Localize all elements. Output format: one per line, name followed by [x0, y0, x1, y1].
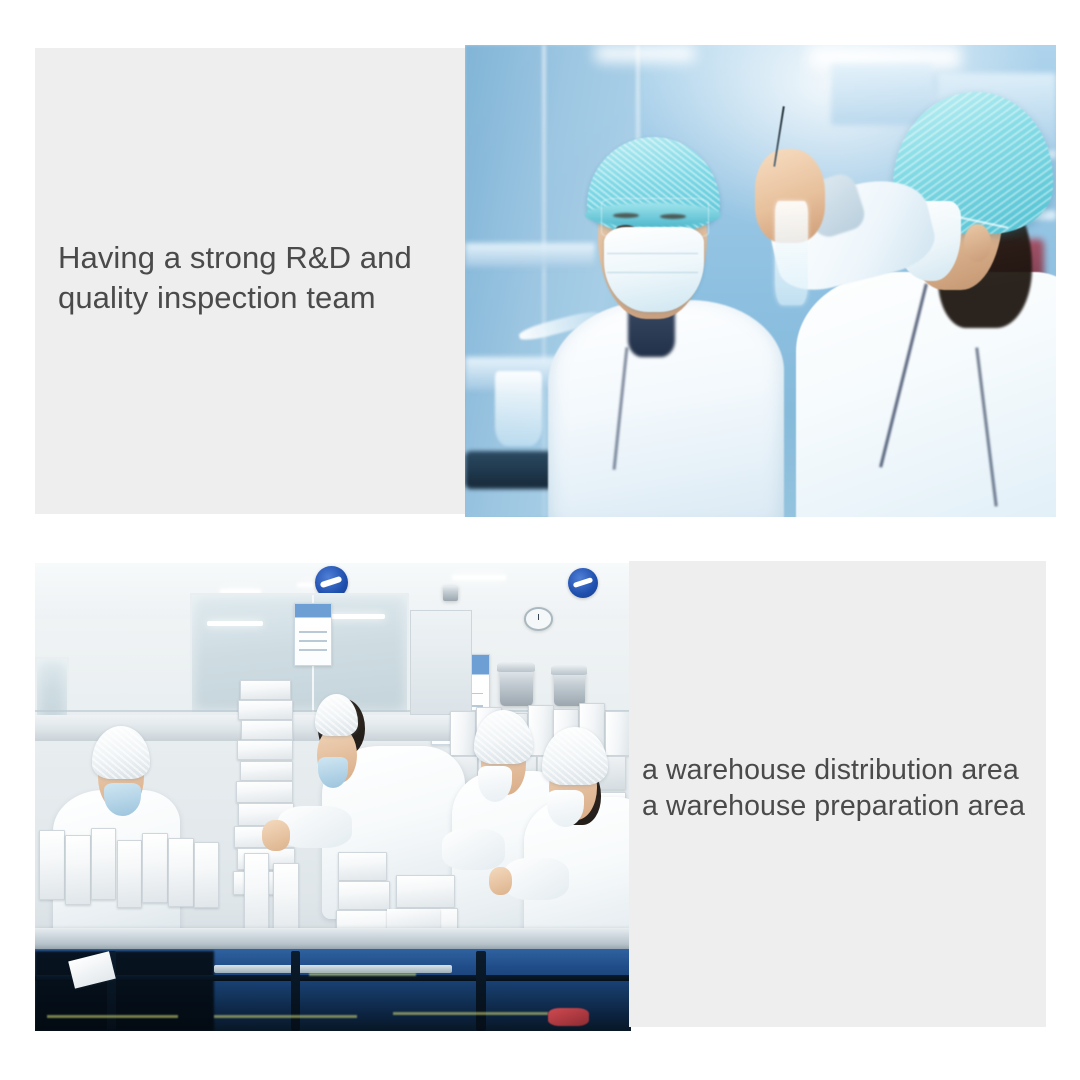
worker-hand — [262, 820, 290, 850]
worker-a-mask-fold — [607, 253, 699, 255]
carton — [168, 838, 194, 907]
rnd-caption-panel: Having a strong R&D and quality inspecti… — [35, 48, 467, 514]
carton — [194, 842, 220, 907]
lab-quality-inspection-photo — [465, 45, 1056, 517]
carton — [236, 781, 293, 803]
carton — [338, 852, 387, 881]
carton — [65, 835, 91, 905]
steel-pot-lid — [551, 664, 587, 675]
ceiling-light-icon — [452, 575, 506, 581]
floor-stripe — [214, 1015, 357, 1018]
worker-arm — [278, 806, 351, 848]
steel-pot — [500, 668, 533, 705]
section-warehouse: a warehouse distribution area a warehous… — [35, 561, 1046, 1031]
warehouse-caption-text: a warehouse distribution area a warehous… — [629, 752, 1033, 825]
lab-scene — [465, 45, 1056, 517]
section-rnd-quality: Having a strong R&D and quality inspecti… — [35, 45, 1056, 517]
paper-sheet — [387, 909, 441, 928]
carton — [39, 830, 65, 900]
lab-cabinet — [831, 64, 931, 125]
warning-sign-icon — [568, 568, 598, 598]
worker-b-ear — [964, 224, 991, 262]
carton — [142, 833, 168, 903]
steel-pot — [554, 671, 585, 706]
wall-notice-poster — [294, 603, 332, 666]
rnd-caption-text: Having a strong R&D and quality inspecti… — [35, 238, 424, 317]
carton — [238, 700, 292, 720]
carton — [237, 740, 293, 760]
carton-stack-front — [35, 816, 250, 938]
table-leg — [476, 951, 486, 1031]
worker-a-face-mask — [604, 227, 704, 312]
warehouse-scene — [35, 563, 631, 1031]
worker-hairnet — [92, 726, 151, 779]
table-shadow — [35, 951, 214, 1031]
lab-wall-seam — [542, 45, 546, 517]
carton — [117, 840, 143, 908]
worker-shoe — [548, 1008, 590, 1027]
poster-text-line — [299, 649, 328, 651]
carton — [240, 761, 293, 781]
carton — [240, 680, 292, 700]
worker-arm — [504, 858, 570, 900]
warehouse-worker-right — [524, 722, 631, 956]
carton-bottle — [244, 853, 270, 939]
lab-sample-vial — [775, 201, 808, 305]
poster-text-line — [299, 640, 328, 642]
carton — [241, 720, 293, 740]
carton — [338, 881, 390, 910]
table-leg — [291, 951, 299, 1031]
poster-text-line — [299, 631, 328, 633]
wall-clock-icon — [524, 607, 553, 631]
floor-stripe — [309, 973, 416, 976]
floor-stripe — [47, 1015, 178, 1018]
warehouse-caption-panel: a warehouse distribution area a warehous… — [629, 561, 1046, 1027]
table-rail — [35, 975, 631, 982]
warehouse-packing-photo — [35, 563, 631, 1031]
carton — [396, 875, 455, 908]
window-light-tube — [207, 621, 263, 626]
lab-beaker — [495, 371, 542, 447]
steel-pot — [443, 586, 457, 601]
worker-a-mask-fold — [607, 272, 699, 274]
carton — [91, 828, 117, 901]
worker-hairnet — [542, 727, 608, 786]
collage-page: Having a strong R&D and quality inspecti… — [0, 0, 1080, 1080]
steel-pot-lid — [497, 661, 535, 672]
steel-table-top — [35, 928, 631, 951]
lab-bench — [465, 243, 595, 267]
ceiling-light-icon — [595, 45, 695, 62]
floor-stripe — [393, 1012, 548, 1015]
